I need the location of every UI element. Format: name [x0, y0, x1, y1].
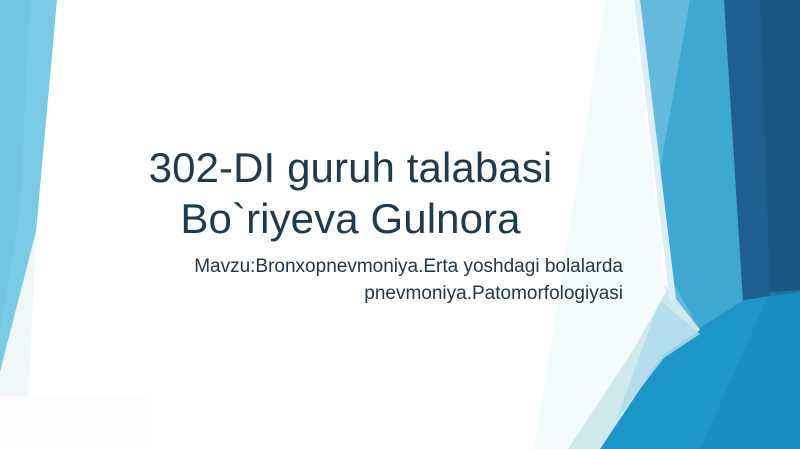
teal-wedge-shape: [648, 0, 744, 330]
slide-title: 302-DI guruh talabasi Bo`riyeva Gulnora: [78, 142, 623, 244]
left-blue-band-shape: [0, 0, 57, 372]
bottom-left-soft-tint: [0, 396, 150, 449]
pale-blue-wedge-shape: [616, 300, 700, 420]
slide-subtitle: Mavzu:Bronxopnevmoniya.Erta yoshdagi bol…: [78, 254, 623, 308]
left-corner-tint-shape: [0, 232, 36, 449]
bright-blue-accent-shape: [700, 290, 800, 449]
slide-text-content: 302-DI guruh talabasi Bo`riyeva Gulnora …: [78, 142, 623, 308]
deep-navy-wedge-shape: [700, 0, 800, 320]
white-band-edge-line: [634, 0, 676, 302]
navy-edge-shape: [760, 0, 800, 300]
left-blue-band-inner-shape: [0, 0, 30, 330]
presentation-slide: 302-DI guruh talabasi Bo`riyeva Gulnora …: [0, 0, 800, 449]
bright-blue-lower-shape: [596, 292, 800, 449]
